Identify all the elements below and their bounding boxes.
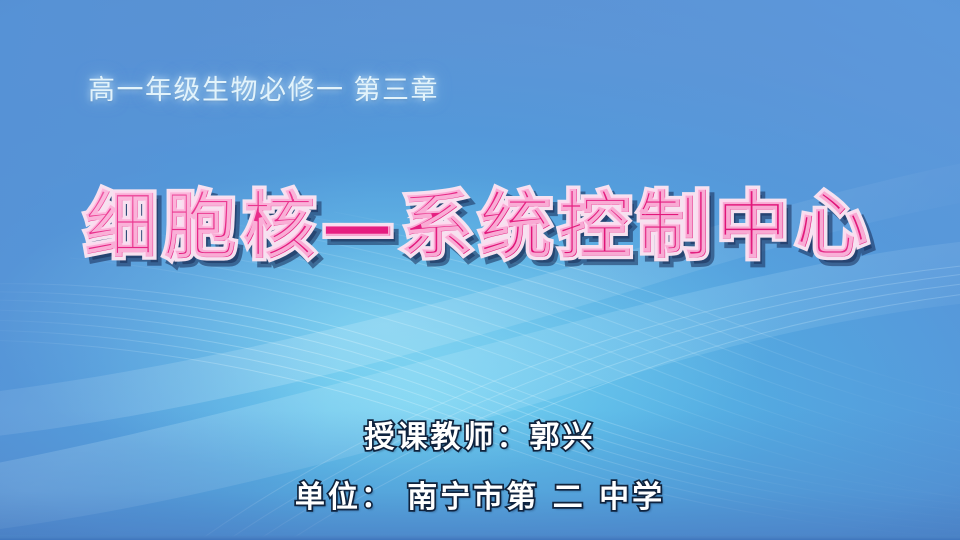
background-bottom-edge (0, 535, 960, 540)
main-title: 细胞核—系统控制中心 细胞核—系统控制中心 细胞核—系统控制中心 细胞核—系统控… (85, 186, 875, 267)
main-title-container: 细胞核—系统控制中心 细胞核—系统控制中心 细胞核—系统控制中心 细胞核—系统控… (0, 186, 960, 296)
course-subtitle: 高一年级生物必修一 第三章 (88, 68, 439, 107)
main-title-gloss-layer: 细胞核—系统控制中心 (84, 185, 874, 266)
presentation-title-slide: 高一年级生物必修一 第三章 细胞核—系统控制中心 细胞核—系统控制中心 细胞核—… (0, 0, 960, 540)
affiliation-line: 单位： 南宁市第 二 中学 (0, 472, 960, 516)
presenter-block: 授课教师：郭兴 单位： 南宁市第 二 中学 (0, 412, 960, 516)
presenter-name-line: 授课教师：郭兴 (0, 412, 960, 456)
